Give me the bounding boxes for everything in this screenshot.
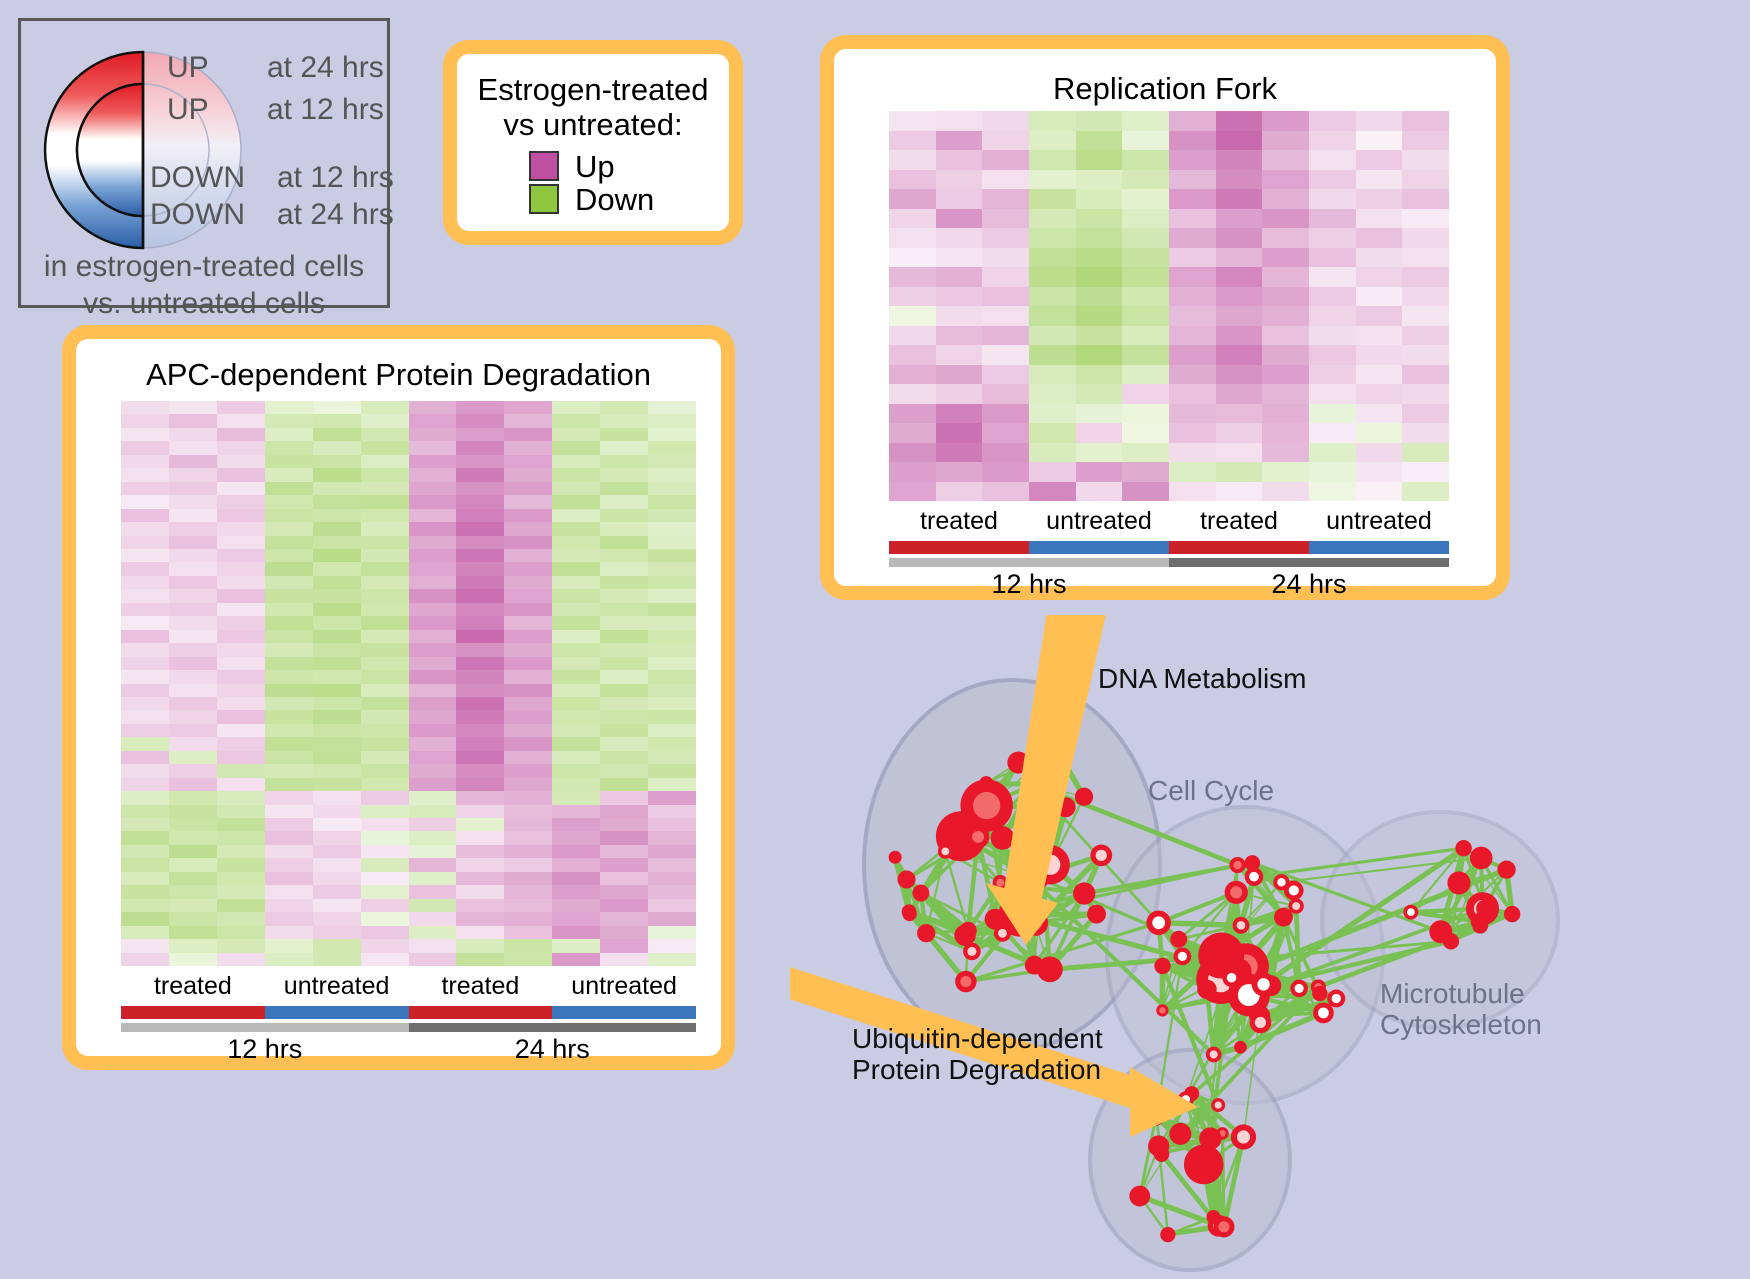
network-node[interactable] [955, 971, 976, 992]
heatmap-cell [552, 589, 600, 602]
network-node[interactable] [889, 851, 902, 864]
network-node[interactable] [1234, 1041, 1247, 1054]
heatmap-cell [504, 643, 552, 656]
heatmap-cell [936, 384, 983, 404]
network-node[interactable] [1197, 980, 1216, 999]
heatmap-cell [648, 912, 696, 925]
heatmap-cell [456, 845, 504, 858]
heatmap-cell [456, 589, 504, 602]
heatmap-cell [1402, 423, 1449, 443]
down-swatch-icon [529, 184, 559, 214]
heatmap-cell [121, 710, 169, 723]
network-node[interactable] [1129, 1186, 1150, 1207]
heatmap-cell [313, 482, 361, 495]
apc-degradation-title: APC-dependent Protein Degradation [76, 357, 721, 393]
network-node[interactable] [1222, 969, 1240, 987]
heatmap-cell [889, 131, 936, 151]
heatmap-cell [504, 926, 552, 939]
heatmap-cell [456, 737, 504, 750]
network-node[interactable] [1403, 905, 1418, 920]
heatmap-cell [600, 791, 648, 804]
heatmap-cell [936, 150, 983, 170]
heatmap-cell [1262, 111, 1309, 131]
heatmap-cell [504, 616, 552, 629]
heatmap-cell [313, 522, 361, 535]
heatmap-cell [169, 697, 217, 710]
network-node[interactable] [1455, 840, 1471, 856]
network-node[interactable] [1206, 1047, 1222, 1063]
heatmap-cell [361, 522, 409, 535]
heatmap-cell [121, 737, 169, 750]
network-node[interactable] [902, 907, 917, 922]
heatmap-cell [361, 751, 409, 764]
heatmap-cell [313, 562, 361, 575]
heatmap-cell [313, 495, 361, 508]
heatmap-cell [409, 455, 457, 468]
time-color-bar [1169, 558, 1449, 567]
heatmap-cell [552, 468, 600, 481]
network-node[interactable] [1073, 882, 1095, 904]
heatmap-cell [1029, 131, 1076, 151]
heatmap-cell [889, 443, 936, 463]
apc-time-labels: 12 hrs24 hrs [121, 1034, 696, 1065]
network-node[interactable] [1250, 1012, 1272, 1034]
network-node[interactable] [1447, 871, 1470, 894]
heatmap-cell [936, 326, 983, 346]
heatmap-cell [456, 428, 504, 441]
heatmap-cell [313, 926, 361, 939]
heatmap-cell [648, 536, 696, 549]
heatmap-cell [361, 670, 409, 683]
colorbar-row-2-time: at 12 hrs [277, 161, 394, 195]
heatmap-cell [361, 831, 409, 844]
network-node[interactable] [1169, 1123, 1191, 1145]
network-node[interactable] [1160, 1227, 1175, 1242]
heatmap-cell [1402, 404, 1449, 424]
heatmap-cell [504, 549, 552, 562]
heatmap-cell [1076, 170, 1123, 190]
heatmap-cell [169, 872, 217, 885]
network-node[interactable] [1225, 881, 1248, 904]
heatmap-cell [456, 764, 504, 777]
heatmap-cell [648, 616, 696, 629]
heatmap-cell [1122, 326, 1169, 346]
heatmap-cell [265, 495, 313, 508]
heatmap-cell [456, 899, 504, 912]
heatmap-cell [600, 482, 648, 495]
heatmap-cell [936, 306, 983, 326]
heatmap-cell [361, 562, 409, 575]
colorbar-row-0-time: at 24 hrs [267, 51, 384, 85]
heatmap-cell [982, 267, 1029, 287]
group-color-bar [1309, 541, 1449, 554]
heatmap-cell [217, 455, 265, 468]
heatmap-cell [409, 616, 457, 629]
heatmap-cell [1402, 170, 1449, 190]
heatmap-cell [889, 345, 936, 365]
network-node[interactable] [1184, 1145, 1224, 1185]
heatmap-cell [1076, 306, 1123, 326]
heatmap-cell [504, 441, 552, 454]
heatmap-cell [1169, 384, 1216, 404]
heatmap-cell [361, 414, 409, 427]
heatmap-cell [552, 778, 600, 791]
heatmap-cell [648, 764, 696, 777]
network-node[interactable] [1213, 1216, 1234, 1237]
heatmap-cell [1029, 306, 1076, 326]
heatmap-cell [169, 643, 217, 656]
heatmap-cell [265, 589, 313, 602]
heatmap-cell [169, 710, 217, 723]
heatmap-cell [600, 455, 648, 468]
network-node[interactable] [1313, 1002, 1334, 1023]
heatmap-cell [456, 805, 504, 818]
group-label: untreated [265, 972, 409, 1001]
heatmap-cell [552, 441, 600, 454]
heatmap-cell [169, 428, 217, 441]
network-edge [1159, 923, 1241, 926]
heatmap-cell [121, 482, 169, 495]
network-node[interactable] [1154, 958, 1170, 974]
heatmap-cell [648, 710, 696, 723]
heatmap-cell [265, 926, 313, 939]
heatmap-cell [313, 657, 361, 670]
heatmap-cell [552, 885, 600, 898]
network-node[interactable] [1429, 920, 1452, 943]
heatmap-cell [1402, 384, 1449, 404]
heatmap-cell [1216, 404, 1263, 424]
heatmap-cell [456, 858, 504, 871]
heatmap-cell [169, 657, 217, 670]
heatmap-cell [265, 509, 313, 522]
heatmap-cell [1216, 111, 1263, 131]
heatmap-cell [217, 684, 265, 697]
heatmap-cell [313, 845, 361, 858]
network-node[interactable] [1476, 900, 1493, 917]
colorbar-footnote-line1: in estrogen-treated cells [21, 249, 387, 286]
heatmap-cell [504, 468, 552, 481]
network-node[interactable] [1087, 905, 1106, 924]
heatmap-cell [1029, 267, 1076, 287]
replication-fork-panel: Replication Fork treateduntreatedtreated… [820, 35, 1510, 600]
heatmap-cell [1309, 423, 1356, 443]
heatmap-cell [265, 751, 313, 764]
heatmap-cell [552, 872, 600, 885]
heatmap-cell [600, 885, 648, 898]
network-node[interactable] [897, 870, 915, 888]
heatmap-cell [504, 589, 552, 602]
heatmap-cell [1356, 228, 1403, 248]
heatmap-cell [552, 953, 600, 966]
group-label: untreated [1029, 507, 1169, 536]
heatmap-cell [409, 845, 457, 858]
heatmap-cell [169, 482, 217, 495]
heatmap-cell [456, 576, 504, 589]
network-node[interactable] [1470, 847, 1493, 870]
heatmap-cell [169, 899, 217, 912]
heatmap-cell [265, 953, 313, 966]
heatmap-cell [313, 805, 361, 818]
heatmap-cell [648, 522, 696, 535]
heatmap-cell [1262, 326, 1309, 346]
heatmap-cell [456, 482, 504, 495]
heatmap-cell [936, 345, 983, 365]
colorbar-row-3-direction: DOWN [150, 198, 245, 232]
network-node[interactable] [938, 844, 953, 859]
network-node[interactable] [1229, 857, 1245, 873]
heatmap-cell [265, 549, 313, 562]
heatmap-cell [409, 926, 457, 939]
heatmap-cell [409, 562, 457, 575]
heatmap-cell [265, 791, 313, 804]
heatmap-cell [889, 384, 936, 404]
heatmap-cell [889, 248, 936, 268]
network-node[interactable] [1327, 990, 1345, 1008]
network-node[interactable] [1273, 874, 1289, 890]
heatmap-cell [552, 899, 600, 912]
network-node[interactable] [979, 776, 993, 790]
legend-title-line2: vs untreated: [469, 107, 717, 142]
heatmap-cell [648, 589, 696, 602]
heatmap-cell [1309, 111, 1356, 131]
heatmap-cell [936, 189, 983, 209]
heatmap-cell [504, 414, 552, 427]
heatmap-cell [1029, 209, 1076, 229]
heatmap-cell [936, 423, 983, 443]
heatmap-cell [456, 791, 504, 804]
network-node[interactable] [1211, 1098, 1225, 1112]
heatmap-cell [982, 404, 1029, 424]
heatmap-cell [1076, 365, 1123, 385]
heatmap-cell [648, 831, 696, 844]
heatmap-cell [1216, 384, 1263, 404]
heatmap-cell [889, 209, 936, 229]
heatmap-cell [648, 562, 696, 575]
heatmap-cell [648, 818, 696, 831]
network-node[interactable] [1497, 861, 1515, 879]
network-node[interactable] [1290, 980, 1308, 998]
heatmap-cell [1122, 267, 1169, 287]
heatmap-cell [1029, 189, 1076, 209]
heatmap-cell [552, 630, 600, 643]
heatmap-cell [1356, 150, 1403, 170]
heatmap-cell [121, 684, 169, 697]
network-node[interactable] [994, 925, 1011, 942]
heatmap-cell [121, 468, 169, 481]
heatmap-cell [889, 189, 936, 209]
heatmap-cell [982, 384, 1029, 404]
replication-time-labels: 12 hrs24 hrs [889, 569, 1449, 600]
heatmap-cell [648, 872, 696, 885]
heatmap-cell [504, 428, 552, 441]
heatmap-cell [648, 657, 696, 670]
heatmap-cell [504, 495, 552, 508]
network-node[interactable] [917, 924, 935, 942]
network-node[interactable] [1312, 986, 1327, 1001]
heatmap-cell [169, 630, 217, 643]
network-node[interactable] [1146, 910, 1171, 935]
heatmap-cell [982, 189, 1029, 209]
network-node[interactable] [1090, 844, 1112, 866]
heatmap-cell [169, 536, 217, 549]
heatmap-cell [265, 818, 313, 831]
heatmap-cell [889, 326, 936, 346]
heatmap-cell [456, 549, 504, 562]
heatmap-cell [648, 885, 696, 898]
heatmap-cell [1076, 111, 1123, 131]
up-swatch-icon [529, 151, 559, 181]
heatmap-cell [456, 401, 504, 414]
heatmap-cell [313, 414, 361, 427]
heatmap-cell [1029, 170, 1076, 190]
network-node[interactable] [1252, 972, 1276, 996]
heatmap-cell [217, 697, 265, 710]
heatmap-cell [1216, 131, 1263, 151]
heatmap-cell [169, 549, 217, 562]
heatmap-cell [456, 872, 504, 885]
heatmap-cell [504, 737, 552, 750]
heatmap-cell [169, 401, 217, 414]
heatmap-cell [121, 805, 169, 818]
heatmap-cell [121, 926, 169, 939]
heatmap-cell [504, 899, 552, 912]
heatmap-cell [313, 912, 361, 925]
heatmap-cell [456, 697, 504, 710]
replication-group-labels: treateduntreatedtreateduntreated [889, 507, 1449, 536]
network-node[interactable] [1075, 788, 1093, 806]
heatmap-cell [1029, 228, 1076, 248]
heatmap-cell [265, 899, 313, 912]
heatmap-cell [936, 462, 983, 482]
heatmap-cell [504, 953, 552, 966]
heatmap-cell [1029, 384, 1076, 404]
heatmap-cell [121, 872, 169, 885]
heatmap-cell [982, 131, 1029, 151]
heatmap-cell [504, 912, 552, 925]
heatmap-cell [409, 509, 457, 522]
heatmap-cell [313, 818, 361, 831]
heatmap-cell [265, 482, 313, 495]
heatmap-cell [648, 778, 696, 791]
colorbar-row-1-direction: UP [167, 93, 209, 127]
heatmap-cell [409, 885, 457, 898]
cluster-label-microtubule-cytoskeleton: Microtubule Cytoskeleton [1380, 978, 1542, 1041]
heatmap-cell [121, 414, 169, 427]
heatmap-cell [121, 495, 169, 508]
heatmap-cell [936, 170, 983, 190]
network-node[interactable] [1199, 1127, 1221, 1149]
heatmap-cell [169, 764, 217, 777]
heatmap-cell [1262, 365, 1309, 385]
heatmap-cell [1122, 384, 1169, 404]
heatmap-cell [648, 495, 696, 508]
time-color-bar [409, 1023, 697, 1032]
heatmap-cell [409, 603, 457, 616]
network-node[interactable] [1170, 931, 1187, 948]
heatmap-cell [217, 724, 265, 737]
heatmap-cell [552, 926, 600, 939]
heatmap-cell [600, 401, 648, 414]
heatmap-cell [889, 287, 936, 307]
network-node[interactable] [1289, 898, 1304, 913]
heatmap-cell [361, 872, 409, 885]
network-node[interactable] [1504, 906, 1520, 922]
heatmap-cell [552, 616, 600, 629]
heatmap-cell [648, 630, 696, 643]
network-node[interactable] [1245, 855, 1261, 871]
heatmap-cell [169, 778, 217, 791]
time-label: 24 hrs [1169, 569, 1449, 600]
heatmap-cell [1262, 131, 1309, 151]
heatmap-cell [456, 643, 504, 656]
heatmap-cell [409, 818, 457, 831]
heatmap-cell [409, 751, 457, 764]
heatmap-cell [265, 831, 313, 844]
heatmap-cell [552, 939, 600, 952]
heatmap-cell [889, 150, 936, 170]
heatmap-cell [600, 643, 648, 656]
network-node[interactable] [1148, 1135, 1169, 1156]
time-label: 24 hrs [409, 1034, 697, 1065]
heatmap-cell [1029, 404, 1076, 424]
heatmap-cell [600, 441, 648, 454]
heatmap-cell [169, 603, 217, 616]
network-node[interactable] [1025, 956, 1044, 975]
heatmap-cell [217, 751, 265, 764]
heatmap-cell [1122, 482, 1169, 502]
network-node[interactable] [1156, 1004, 1168, 1016]
heatmap-cell [1356, 365, 1403, 385]
group-label: untreated [1309, 507, 1449, 536]
heatmap-cell [265, 939, 313, 952]
heatmap-cell [361, 603, 409, 616]
legend-item-down: Down [529, 184, 717, 215]
heatmap-cell [361, 885, 409, 898]
heatmap-cell [121, 455, 169, 468]
apc-degradation-panel: APC-dependent Protein Degradation treate… [62, 325, 735, 1070]
heatmap-cell [600, 562, 648, 575]
heatmap-cell [600, 872, 648, 885]
heatmap-cell [217, 441, 265, 454]
network-node[interactable] [1231, 1124, 1256, 1149]
network-node[interactable] [912, 885, 929, 902]
network-node[interactable] [954, 924, 976, 946]
heatmap-cell [1356, 189, 1403, 209]
network-node[interactable] [1233, 917, 1250, 934]
heatmap-cell [265, 643, 313, 656]
heatmap-cell [169, 737, 217, 750]
network-node[interactable] [1173, 948, 1191, 966]
network-node[interactable] [967, 826, 990, 849]
heatmap-cell [1076, 443, 1123, 463]
heatmap-cell [121, 953, 169, 966]
heatmap-cell [648, 401, 696, 414]
heatmap-cell [217, 885, 265, 898]
heatmap-cell [121, 657, 169, 670]
heatmap-cell [1356, 345, 1403, 365]
heatmap-cell [1309, 443, 1356, 463]
heatmap-cell [1402, 131, 1449, 151]
heatmap-cell [504, 603, 552, 616]
apc-degradation-heatmap [121, 401, 696, 966]
heatmap-cell [217, 858, 265, 871]
heatmap-cell [504, 885, 552, 898]
heatmap-cell [1169, 150, 1216, 170]
heatmap-cell [265, 778, 313, 791]
replication-fork-title: Replication Fork [834, 71, 1496, 107]
heatmap-cell [217, 791, 265, 804]
heatmap-cell [1029, 365, 1076, 385]
